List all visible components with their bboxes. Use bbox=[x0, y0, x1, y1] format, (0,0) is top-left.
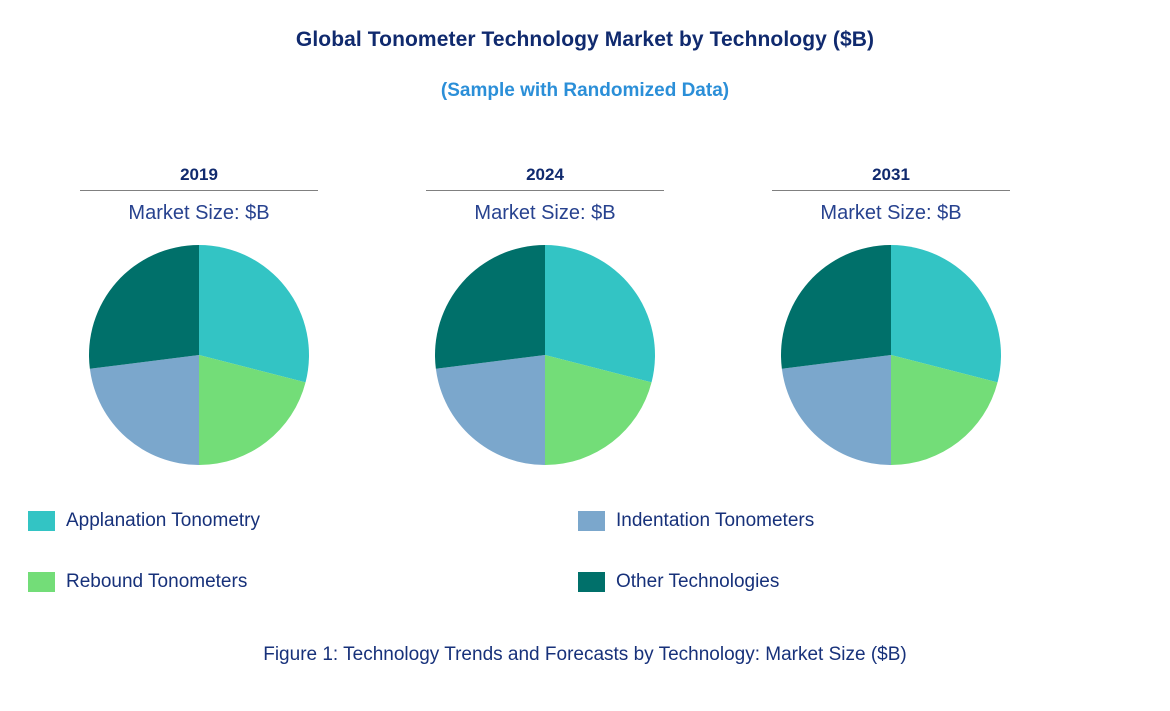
panel-year-label: 2024 bbox=[426, 165, 664, 191]
legend-item-label: Indentation Tonometers bbox=[616, 510, 814, 532]
panel-market-size-label: Market Size: $B bbox=[731, 202, 1051, 225]
pie-panel-2024: 2024 Market Size: $B bbox=[385, 165, 705, 485]
pie-slice bbox=[781, 245, 891, 369]
legend-item-rebound-tonometers: Rebound Tonometers bbox=[28, 571, 247, 593]
panel-year-label: 2031 bbox=[772, 165, 1010, 191]
pie-panel-2019: 2019 Market Size: $B bbox=[39, 165, 359, 485]
legend-swatch-icon bbox=[578, 511, 605, 531]
chart-figure: Global Tonometer Technology Market by Te… bbox=[0, 0, 1170, 711]
chart-subtitle: (Sample with Randomized Data) bbox=[0, 80, 1170, 102]
pie-slice bbox=[89, 245, 199, 369]
pie-chart-2024 bbox=[435, 245, 655, 465]
pie-chart-2019 bbox=[89, 245, 309, 465]
legend-item-other-technologies: Other Technologies bbox=[578, 571, 779, 593]
pie-slice bbox=[435, 245, 545, 369]
legend-item-label: Other Technologies bbox=[616, 571, 779, 593]
figure-caption: Figure 1: Technology Trends and Forecast… bbox=[0, 644, 1170, 666]
panel-market-size-label: Market Size: $B bbox=[385, 202, 705, 225]
chart-title: Global Tonometer Technology Market by Te… bbox=[0, 28, 1170, 52]
pie-slice bbox=[90, 355, 199, 465]
panel-year-label: 2019 bbox=[80, 165, 318, 191]
pie-slice bbox=[436, 355, 545, 465]
pie-chart-2031 bbox=[781, 245, 1001, 465]
legend-item-indentation-tonometers: Indentation Tonometers bbox=[578, 510, 814, 532]
legend-swatch-icon bbox=[28, 511, 55, 531]
legend-item-label: Applanation Tonometry bbox=[66, 510, 260, 532]
legend-item-applanation-tonometry: Applanation Tonometry bbox=[28, 510, 260, 532]
chart-legend: Applanation Tonometry Indentation Tonome… bbox=[0, 500, 1170, 610]
pie-panels: 2019 Market Size: $B 2024 Market Size: $… bbox=[0, 165, 1170, 485]
panel-market-size-label: Market Size: $B bbox=[39, 202, 359, 225]
pie-panel-2031: 2031 Market Size: $B bbox=[731, 165, 1051, 485]
legend-swatch-icon bbox=[578, 572, 605, 592]
legend-item-label: Rebound Tonometers bbox=[66, 571, 247, 593]
pie-slice bbox=[782, 355, 891, 465]
legend-swatch-icon bbox=[28, 572, 55, 592]
